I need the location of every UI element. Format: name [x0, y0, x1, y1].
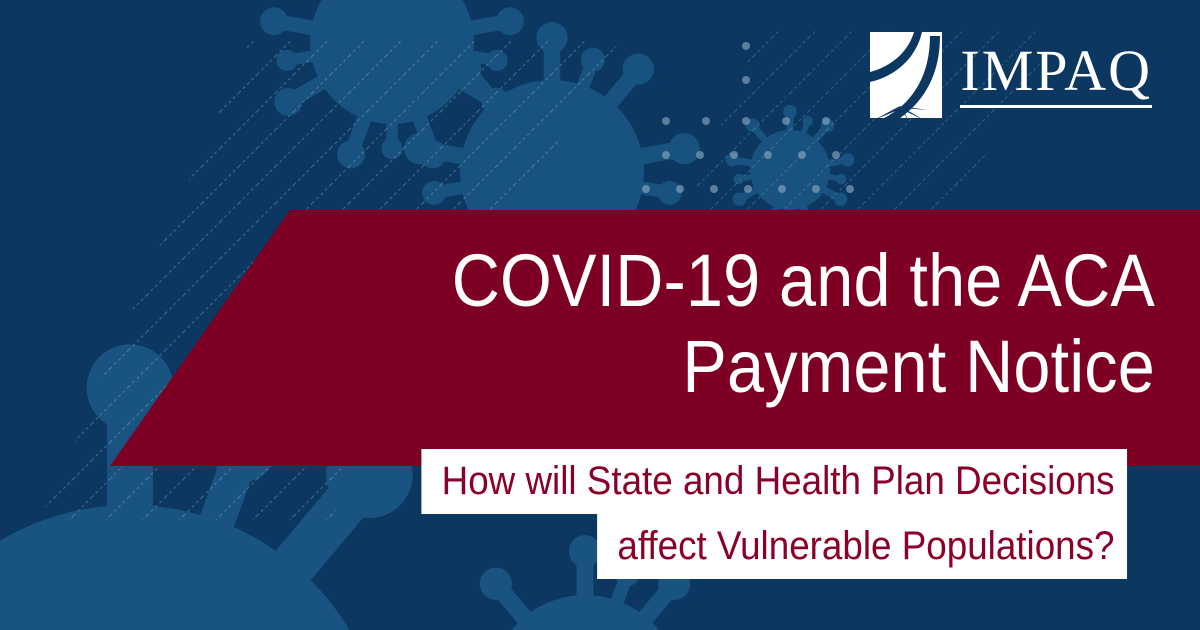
impaq-wordmark-underline [960, 105, 1152, 108]
page-title: COVID-19 and the ACA Payment Notice [116, 238, 1156, 410]
page-subtitle-line-2: affect Vulnerable Populations? [597, 514, 1127, 579]
page-subtitle: How will State and Health Plan Decisions… [0, 449, 1127, 579]
impaq-wordmark: IMPAQ [960, 42, 1152, 108]
page-subtitle-row-1: How will State and Health Plan Decisions [0, 449, 1127, 514]
social-card-canvas: COVID-19 and the ACA Payment Notice How … [0, 0, 1200, 630]
impaq-logo[interactable]: IMPAQ [870, 32, 1152, 118]
page-title-line-1: COVID-19 and the ACA [116, 238, 1156, 324]
impaq-leaf-arc-icon [870, 32, 942, 118]
page-title-line-2: Payment Notice [116, 324, 1156, 410]
page-subtitle-line-1: How will State and Health Plan Decisions [421, 449, 1127, 514]
page-subtitle-row-2: affect Vulnerable Populations? [0, 514, 1127, 579]
impaq-wordmark-text: IMPAQ [960, 42, 1152, 100]
